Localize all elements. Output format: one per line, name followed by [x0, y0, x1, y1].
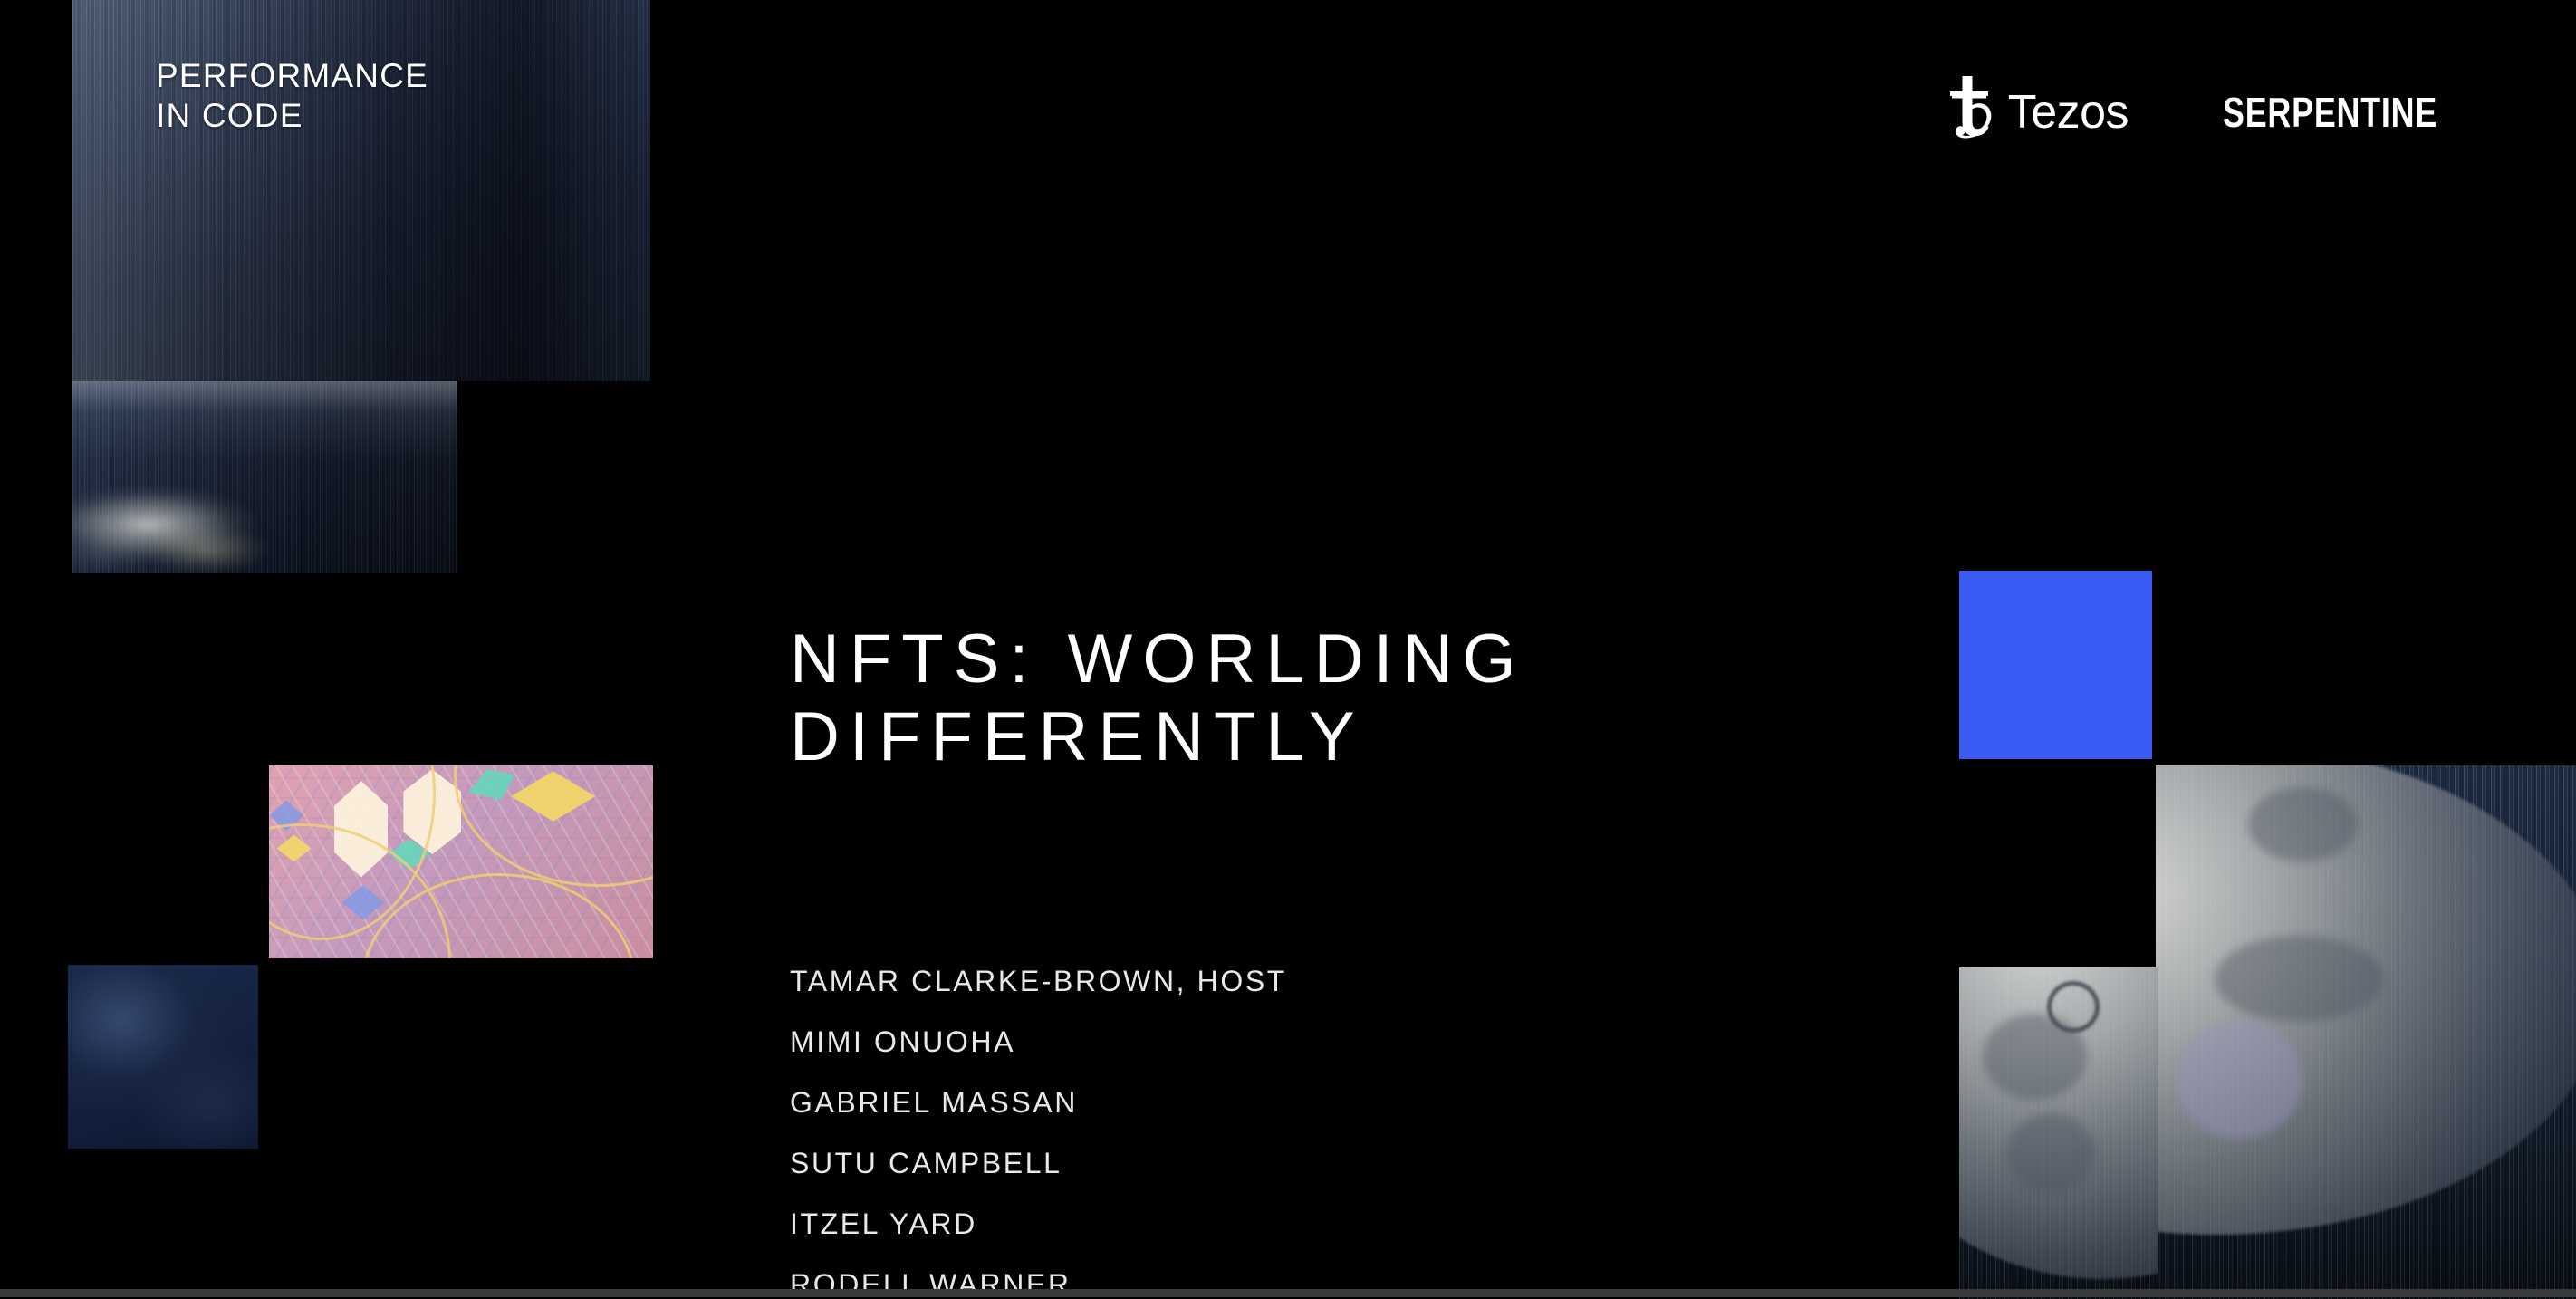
moon-crater: [2215, 936, 2383, 1021]
moon-crater: [2177, 1022, 2302, 1140]
speaker-list: TAMAR CLARKE-BROWN, HOST MIMI ONUOHA GAB…: [790, 951, 1287, 1299]
smoke-cloud-shape: [72, 481, 296, 573]
partner-logo-bar: Tezos SERPENTINE: [1945, 74, 2498, 149]
moon-crater: [1983, 1014, 2086, 1100]
video-frame: PERFORMANCE IN CODE NFTS: WORLDING DIFFE…: [0, 0, 2576, 1299]
decor-image-moon-right: [2156, 765, 2576, 1299]
list-item: MIMI ONUOHA: [790, 1012, 1287, 1073]
moon-crater: [2248, 787, 2358, 861]
decor-image-isometric-cubes: [269, 765, 653, 958]
list-item: SUTU CAMPBELL: [790, 1133, 1287, 1194]
video-progress-bar[interactable]: [0, 1289, 2576, 1297]
tezos-tz-icon: [1945, 74, 1994, 149]
serpentine-logo: SERPENTINE: [2223, 91, 2437, 133]
tezos-wordmark: Tezos: [2008, 89, 2129, 136]
decor-blue-square: [1959, 571, 2152, 759]
series-title: PERFORMANCE IN CODE: [156, 56, 428, 135]
page-title: NFTS: WORLDING DIFFERENTLY: [790, 621, 1859, 776]
decor-image-moon-left: [1959, 967, 2158, 1299]
decor-image-navy-square: [68, 965, 258, 1149]
moon-crater: [2007, 1113, 2095, 1193]
decor-image-streaked-top-lower: [72, 381, 457, 573]
list-item: TAMAR CLARKE-BROWN, HOST: [790, 951, 1287, 1012]
tezos-logo: Tezos: [1945, 74, 2129, 149]
list-item: ITZEL YARD: [790, 1194, 1287, 1255]
list-item: GABRIEL MASSAN: [790, 1073, 1287, 1133]
